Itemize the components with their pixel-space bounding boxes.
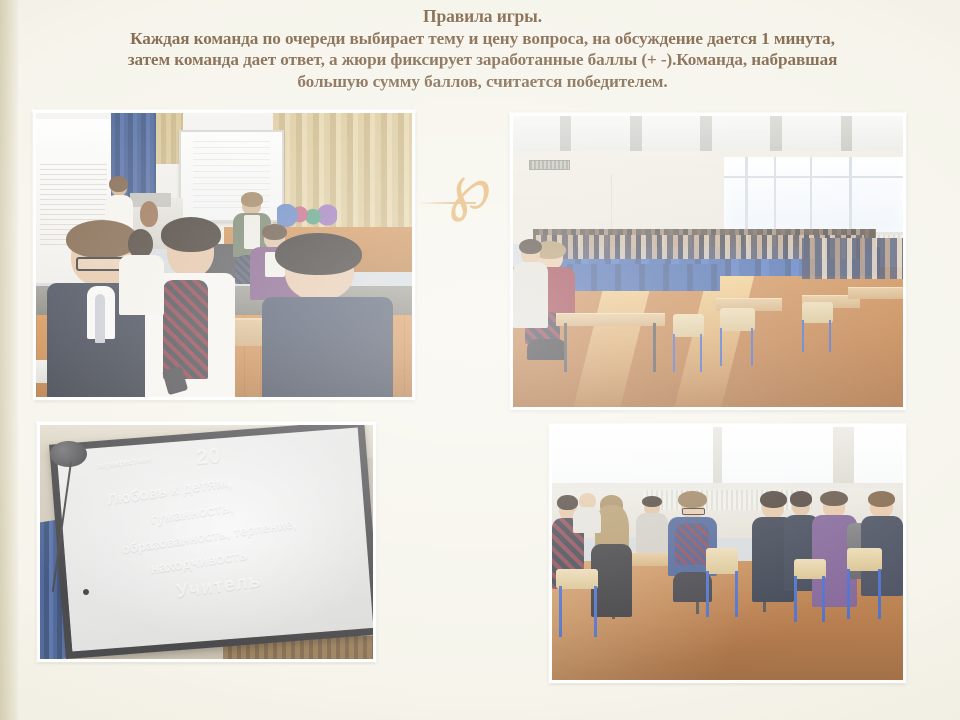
photo-bottom-left-image: перекрестное 20 Любовь к детям, гуманнос…	[40, 425, 373, 659]
page-title: Правила игры.	[55, 6, 910, 28]
slide-left-band	[0, 0, 18, 720]
photo-top-left-image	[36, 113, 412, 397]
photo-top-right[interactable]	[510, 113, 906, 410]
title-body-line-1: Каждая команда по очереди выбирает тему …	[55, 28, 910, 50]
ornament-glyph: ℘	[448, 156, 491, 218]
photo-bottom-right[interactable]	[549, 424, 906, 683]
title-body-line-2: затем команда дает ответ, а жюри фиксиру…	[55, 49, 910, 71]
photo-top-right-image	[513, 116, 903, 407]
projection-screen: перекрестное 20 Любовь к детям, гуманнос…	[49, 425, 373, 659]
slide-title-block: Правила игры. Каждая команда по очереди …	[55, 6, 910, 92]
title-body-line-3: большую сумму баллов, считается победите…	[55, 71, 910, 93]
slide-canvas: Правила игры. Каждая команда по очереди …	[0, 0, 960, 720]
photo-bottom-right-image	[552, 427, 903, 680]
screen-mount-icon	[50, 441, 87, 467]
photo-top-left[interactable]	[33, 110, 415, 400]
photo-bottom-left[interactable]: перекрестное 20 Любовь к детям, гуманнос…	[37, 422, 376, 662]
